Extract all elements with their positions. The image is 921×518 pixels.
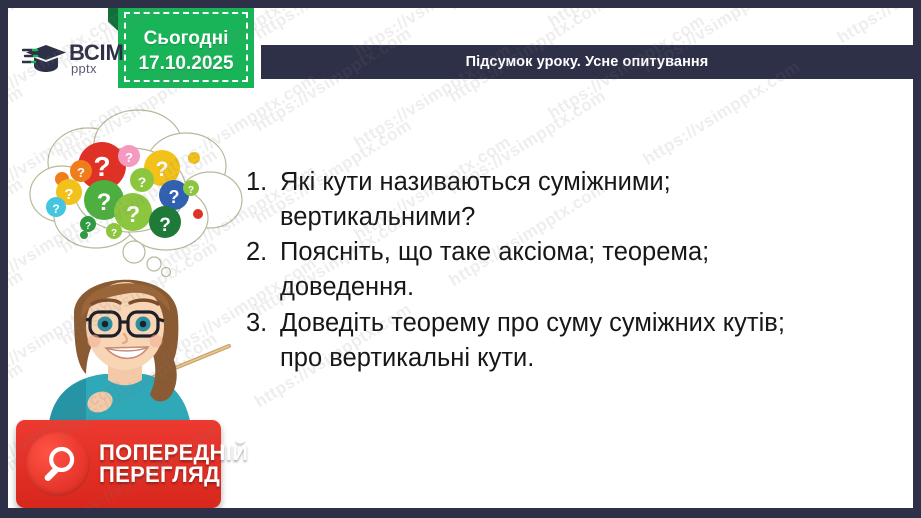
svg-text:?: ? [85, 221, 91, 232]
svg-text:?: ? [111, 228, 117, 239]
slide-page: https://vsimpptx.comhttps://vsimpptx.com… [8, 8, 913, 508]
svg-text:?: ? [93, 151, 110, 182]
svg-text:?: ? [126, 201, 140, 227]
svg-text:?: ? [159, 215, 171, 236]
question-text: доведення. [280, 271, 886, 304]
question-item: доведення. [246, 271, 886, 304]
svg-text:?: ? [125, 150, 133, 165]
svg-text:?: ? [77, 165, 85, 180]
question-item: вертикальними? [246, 201, 886, 234]
question-text: Які кути називаються суміжними; [280, 166, 886, 199]
question-number: 3. [246, 307, 280, 340]
question-item: про вертикальні кути. [246, 342, 886, 375]
slide-root: https://vsimpptx.comhttps://vsimpptx.com… [0, 0, 921, 518]
page-title: Підсумок уроку. Усне опитування [466, 54, 709, 70]
question-item: 3.Доведіть теорему про суму суміжних кут… [246, 307, 886, 340]
brand-logo[interactable]: ВСІМ pptx [22, 36, 142, 82]
logo-sub-text: pptx [71, 63, 124, 75]
preview-button-line2: ПЕРЕГЛЯД [99, 464, 248, 486]
svg-text:?: ? [169, 187, 180, 207]
question-text: Поясніть, що таке аксіома; теорема; [280, 236, 886, 269]
question-item: 2.Поясніть, що таке аксіома; теорема; [246, 236, 886, 269]
question-number: 2. [246, 236, 280, 269]
svg-text:?: ? [64, 186, 73, 203]
logo-main-text: ВСІМ [69, 43, 124, 63]
preview-button-line1: ПОПЕРЕДНІЙ [99, 442, 248, 464]
question-number: 1. [246, 166, 280, 199]
svg-text:?: ? [156, 158, 169, 181]
svg-text:?: ? [97, 189, 112, 216]
question-list: 1.Які кути називаються суміжними;вертика… [246, 166, 886, 377]
question-text: вертикальними? [280, 201, 886, 234]
svg-text:?: ? [138, 174, 147, 190]
date-badge-label: Сьогодні [144, 28, 229, 50]
graduation-cap-icon [22, 39, 68, 79]
svg-text:?: ? [188, 185, 194, 196]
magnifier-icon [26, 432, 90, 496]
header-bar: Підсумок уроку. Усне опитування [261, 45, 913, 79]
preview-button[interactable]: ПОПЕРЕДНІЙ ПЕРЕГЛЯД [16, 420, 221, 508]
teacher-illustration [24, 246, 244, 436]
svg-text:?: ? [52, 202, 59, 216]
date-badge-date: 17.10.2025 [138, 53, 233, 75]
question-text: Доведіть теорему про суму суміжних кутів… [280, 307, 886, 340]
question-item: 1.Які кути називаються суміжними; [246, 166, 886, 199]
question-text: про вертикальні кути. [280, 342, 886, 375]
